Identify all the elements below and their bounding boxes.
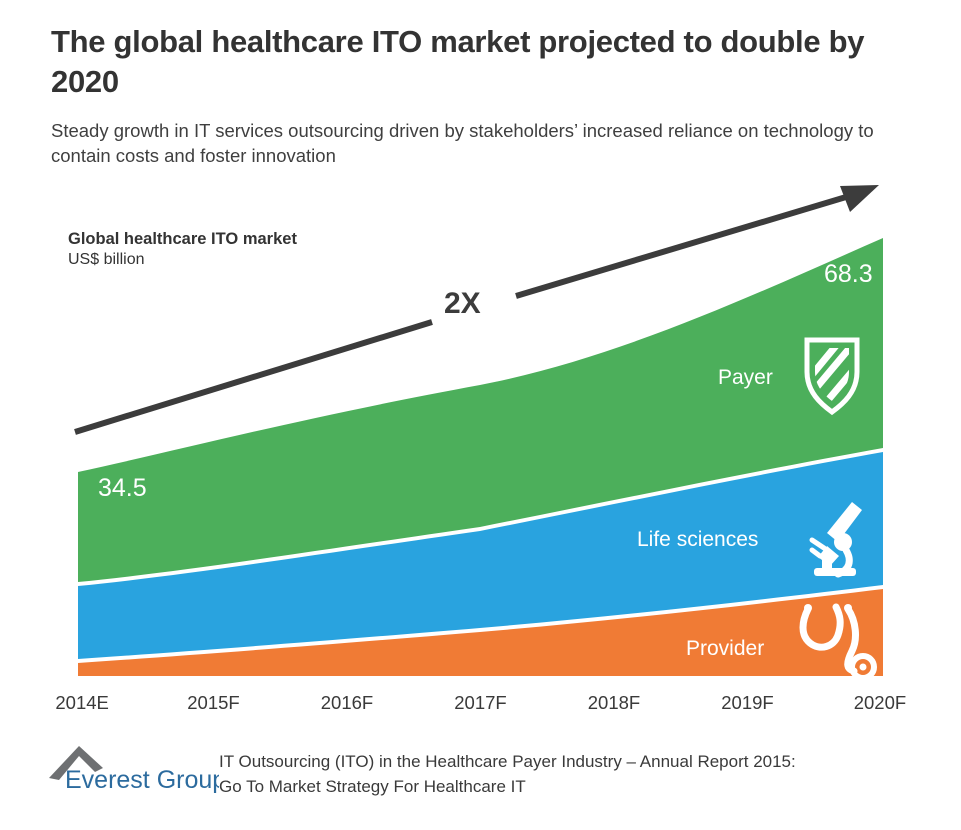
everest-group-logo: Everest Group [47,742,219,798]
series-label-payer: Payer [718,366,773,390]
x-tick-label: 2019F [721,692,773,714]
stacked-area-chart [0,0,961,760]
logo-text: Everest Group [65,766,219,794]
series-label-provider: Provider [686,637,764,661]
x-tick-label: 2018F [588,692,640,714]
footer: Everest Group IT Outsourcing (ITO) in th… [47,742,947,822]
source-citation: IT Outsourcing (ITO) in the Healthcare P… [219,750,939,799]
x-tick-label: 2014E [55,692,109,714]
x-tick-label: 2016F [321,692,373,714]
chart-page: The global healthcare ITO market project… [0,0,961,830]
x-tick-label: 2020F [854,692,906,714]
x-axis: 2014E2015F2016F2017F2018F2019F2020F [0,692,961,722]
series-label-life-sciences: Life sciences [637,528,758,552]
source-line-1: IT Outsourcing (ITO) in the Healthcare P… [219,752,796,771]
value-label-2020: 68.3 [824,260,873,289]
source-line-2: Go To Market Strategy For Healthcare IT [219,775,939,800]
growth-multiple-label: 2X [444,287,481,321]
x-tick-label: 2015F [187,692,239,714]
x-tick-label: 2017F [454,692,506,714]
value-label-2014: 34.5 [98,474,147,503]
